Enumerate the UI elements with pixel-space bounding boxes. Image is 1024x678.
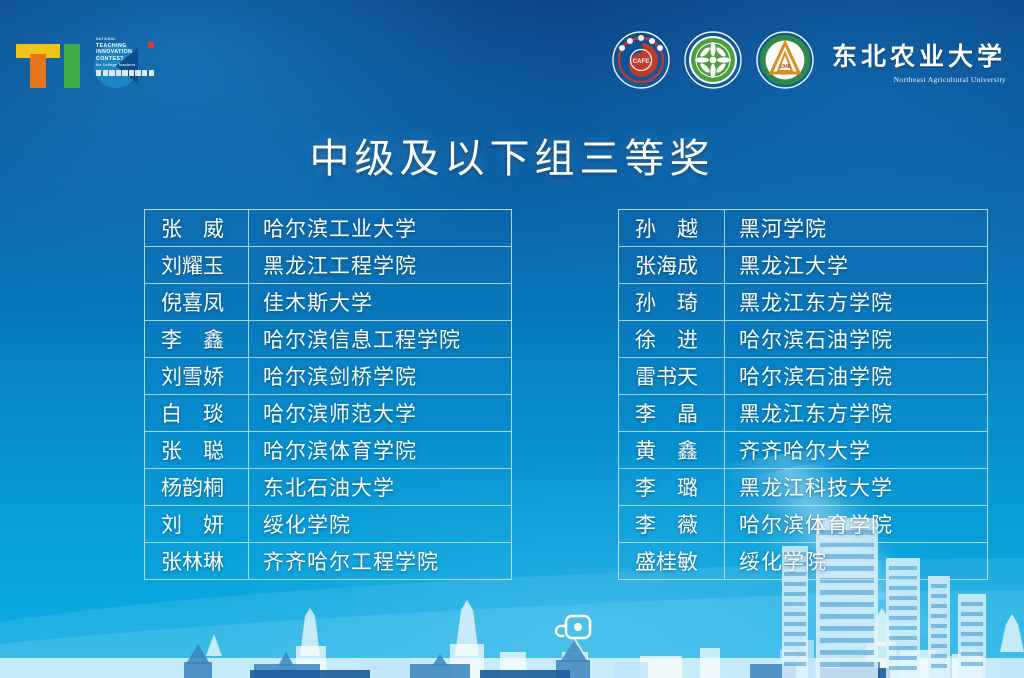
awardee-name: 刘 妍	[145, 506, 249, 542]
awardee-name: 刘雪娇	[145, 358, 249, 394]
table-row: 杨韵桐东北石油大学	[145, 469, 511, 506]
awardee-name: 张 威	[145, 210, 249, 246]
award-table-left: 张 威哈尔滨工业大学刘耀玉黑龙江工程学院倪喜凤佳木斯大学李 鑫哈尔滨信息工程学院…	[144, 209, 512, 580]
table-row: 白 琰哈尔滨师范大学	[145, 395, 511, 432]
award-tables: 张 威哈尔滨工业大学刘耀玉黑龙江工程学院倪喜凤佳木斯大学李 鑫哈尔滨信息工程学院…	[0, 0, 1024, 678]
awardee-name: 倪喜凤	[145, 284, 249, 320]
awardee-institution: 哈尔滨石油学院	[725, 321, 987, 357]
awardee-name: 盛桂敏	[619, 543, 725, 579]
awardee-institution: 黑龙江科技大学	[725, 469, 987, 505]
awardee-institution: 哈尔滨工业大学	[249, 210, 511, 246]
table-row: 刘雪娇哈尔滨剑桥学院	[145, 358, 511, 395]
table-row: 徐 进哈尔滨石油学院	[619, 321, 987, 358]
table-row: 盛桂敏绥化学院	[619, 543, 987, 580]
awardee-institution: 齐齐哈尔工程学院	[249, 543, 511, 579]
awardee-institution: 哈尔滨师范大学	[249, 395, 511, 431]
awardee-institution: 黑龙江大学	[725, 247, 987, 283]
awardee-name: 黄 鑫	[619, 432, 725, 468]
awardee-name: 杨韵桐	[145, 469, 249, 505]
awardee-institution: 哈尔滨石油学院	[725, 358, 987, 394]
table-row: 李 薇哈尔滨体育学院	[619, 506, 987, 543]
awardee-name: 孙 琦	[619, 284, 725, 320]
awardee-institution: 哈尔滨体育学院	[725, 506, 987, 542]
awardee-institution: 黑河学院	[725, 210, 987, 246]
awardee-name: 白 琰	[145, 395, 249, 431]
table-row: 雷书天哈尔滨石油学院	[619, 358, 987, 395]
table-row: 倪喜凤佳木斯大学	[145, 284, 511, 321]
awardee-name: 雷书天	[619, 358, 725, 394]
awardee-institution: 哈尔滨剑桥学院	[249, 358, 511, 394]
award-table-right: 孙 越黑河学院张海成黑龙江大学孙 琦黑龙江东方学院徐 进哈尔滨石油学院雷书天哈尔…	[618, 209, 988, 580]
awardee-institution: 黑龙江工程学院	[249, 247, 511, 283]
awardee-institution: 哈尔滨体育学院	[249, 432, 511, 468]
table-row: 张 威哈尔滨工业大学	[145, 210, 511, 247]
awardee-name: 张海成	[619, 247, 725, 283]
awardee-institution: 黑龙江东方学院	[725, 284, 987, 320]
awardee-institution: 齐齐哈尔大学	[725, 432, 987, 468]
awardee-name: 李 鑫	[145, 321, 249, 357]
camera-watermark-icon	[552, 610, 596, 648]
table-row: 李 璐黑龙江科技大学	[619, 469, 987, 506]
table-row: 刘耀玉黑龙江工程学院	[145, 247, 511, 284]
table-row: 张 聪哈尔滨体育学院	[145, 432, 511, 469]
table-row: 张海成黑龙江大学	[619, 247, 987, 284]
awardee-institution: 东北石油大学	[249, 469, 511, 505]
awardee-institution: 绥化学院	[249, 506, 511, 542]
awardee-name: 张林琳	[145, 543, 249, 579]
table-row: 张林琳齐齐哈尔工程学院	[145, 543, 511, 580]
awardee-institution: 哈尔滨信息工程学院	[249, 321, 511, 357]
slide-canvas: NATIONAL TEACHING INNOVATION CONTEST for…	[0, 0, 1024, 678]
table-row: 李 鑫哈尔滨信息工程学院	[145, 321, 511, 358]
awardee-institution: 绥化学院	[725, 543, 987, 579]
table-row: 刘 妍绥化学院	[145, 506, 511, 543]
awardee-name: 刘耀玉	[145, 247, 249, 283]
awardee-name: 李 璐	[619, 469, 725, 505]
awardee-institution: 黑龙江东方学院	[725, 395, 987, 431]
awardee-name: 李 薇	[619, 506, 725, 542]
table-row: 李 晶黑龙江东方学院	[619, 395, 987, 432]
awardee-name: 孙 越	[619, 210, 725, 246]
table-row: 孙 琦黑龙江东方学院	[619, 284, 987, 321]
awardee-name: 张 聪	[145, 432, 249, 468]
awardee-institution: 佳木斯大学	[249, 284, 511, 320]
table-row: 黄 鑫齐齐哈尔大学	[619, 432, 987, 469]
table-row: 孙 越黑河学院	[619, 210, 987, 247]
awardee-name: 徐 进	[619, 321, 725, 357]
awardee-name: 李 晶	[619, 395, 725, 431]
